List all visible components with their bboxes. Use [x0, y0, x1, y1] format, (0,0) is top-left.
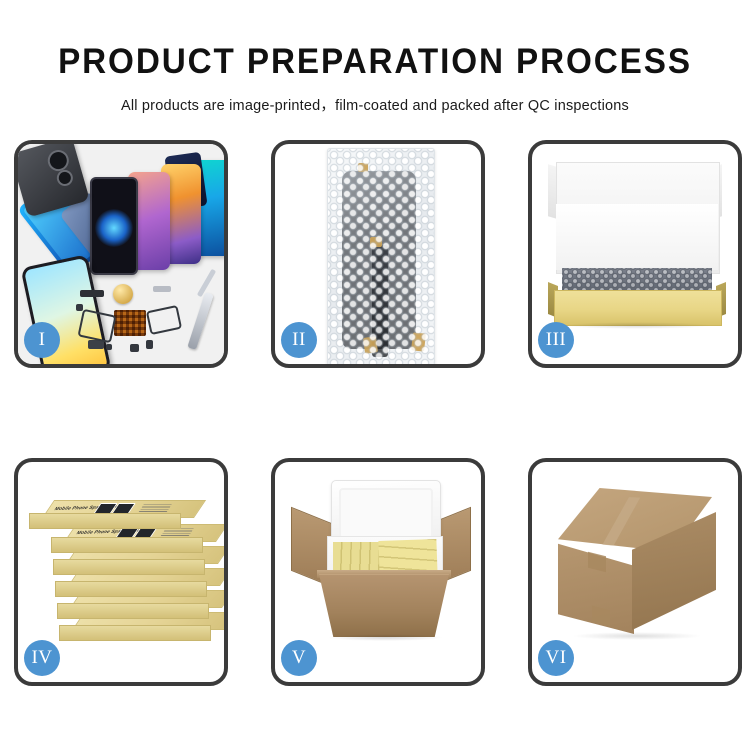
stacked-box-labeled: Mobile Phone Spare Parts	[42, 500, 192, 522]
small-part-icon	[153, 286, 171, 292]
header: PRODUCT PREPARATION PROCESS All products…	[0, 0, 750, 115]
step-panel-3[interactable]: III	[528, 140, 742, 368]
box-shadow	[562, 322, 712, 329]
carton-shadow	[572, 632, 702, 640]
screw-icon	[146, 340, 153, 349]
step-panel-6[interactable]: VI	[528, 458, 742, 686]
step-badge-6: VI	[538, 640, 574, 676]
connector-chip-icon	[114, 310, 146, 336]
steps-grid: I II	[14, 140, 742, 686]
bubble-wrap-bag	[327, 148, 435, 366]
tape-piece	[411, 332, 426, 351]
step-badge-3: III	[538, 322, 574, 358]
step-badge-2: II	[281, 322, 317, 358]
phone-screen-icon	[90, 177, 138, 275]
page-title: PRODUCT PREPARATION PROCESS	[19, 44, 732, 79]
step-badge-4: IV	[24, 640, 60, 676]
screw-icon	[76, 304, 83, 311]
step-badge-5: V	[281, 640, 317, 676]
tape-piece	[370, 237, 382, 247]
tape-piece	[358, 163, 368, 172]
box-front-panel	[554, 290, 722, 326]
tape-piece	[363, 336, 378, 354]
carton-shadow	[327, 634, 443, 641]
steps-row-top: I II	[14, 140, 742, 368]
box-stack: Mobile Phone Spare Parts Mobile Phone Sp…	[26, 486, 222, 672]
speaker-coil-icon	[113, 284, 133, 304]
step-panel-4[interactable]: Mobile Phone Spare Parts Mobile Phone Sp…	[14, 458, 228, 686]
step-badge-1: I	[24, 322, 60, 358]
step-panel-1[interactable]: I	[14, 140, 228, 368]
step-panel-2[interactable]: II	[271, 140, 485, 368]
product-preparation-infographic: PRODUCT PREPARATION PROCESS All products…	[0, 0, 750, 750]
screw-icon	[130, 344, 139, 352]
small-part-icon	[80, 290, 104, 297]
carton-front-panel	[319, 574, 449, 637]
steps-row-bottom: Mobile Phone Spare Parts Mobile Phone Sp…	[14, 458, 742, 686]
screw-icon	[106, 344, 112, 350]
step-panel-5[interactable]: V	[271, 458, 485, 686]
foam-sheet	[556, 204, 718, 270]
page-subtitle: All products are image-printed，film-coat…	[0, 94, 750, 115]
